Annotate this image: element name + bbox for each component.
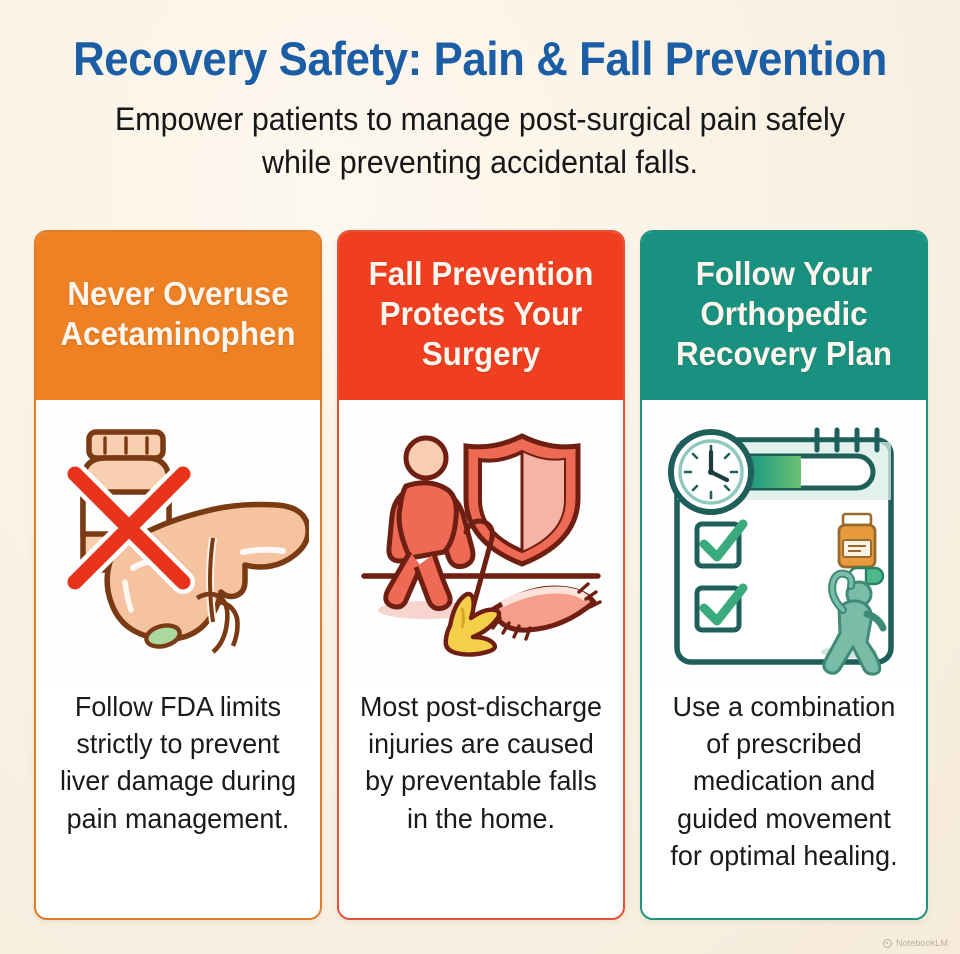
card-caption: Most post-discharge injuries are caused … xyxy=(350,686,611,908)
loose-rug-icon xyxy=(484,584,600,639)
card-header-recovery-plan: Follow Your Orthopedic Recovery Plan xyxy=(642,232,926,400)
watermark: NotebookLM xyxy=(883,938,948,948)
card-header-fall-prevention: Fall Prevention Protects Your Surgery xyxy=(339,232,623,400)
fall-prevention-illustration-svg xyxy=(350,414,612,676)
illustration-pill-bottle-crossed-out-with-liver xyxy=(42,404,314,686)
poster-header: Recovery Safety: Pain & Fall Prevention … xyxy=(0,0,960,184)
poster-subtitle: Empower patients to manage post-surgical… xyxy=(105,98,856,184)
shield-icon xyxy=(466,436,578,564)
illustration-recovery-plan-checklist xyxy=(648,404,920,686)
card-heading: Never Overuse Acetaminophen xyxy=(55,274,302,354)
card-caption: Follow FDA limits strictly to prevent li… xyxy=(47,686,308,908)
acetaminophen-illustration-svg xyxy=(47,414,309,676)
card-caption: Use a combination of prescribed medicati… xyxy=(653,686,914,908)
card-body-fall-prevention: Most post-discharge injuries are caused … xyxy=(339,400,623,918)
card-acetaminophen[interactable]: Never Overuse Acetaminophen xyxy=(34,230,322,920)
cards-row: Never Overuse Acetaminophen xyxy=(34,230,928,920)
card-header-acetaminophen: Never Overuse Acetaminophen xyxy=(36,232,320,400)
clock-icon xyxy=(671,432,751,512)
checkbox-checked-icon xyxy=(697,524,743,566)
card-heading: Follow Your Orthopedic Recovery Plan xyxy=(661,254,908,374)
walking-person-icon xyxy=(386,438,473,609)
card-heading: Fall Prevention Protects Your Surgery xyxy=(358,254,605,374)
recovery-plan-illustration-svg xyxy=(653,414,915,676)
medicine-bottle-icon xyxy=(839,514,875,567)
checkbox-checked-icon xyxy=(697,588,743,630)
page-title: Recovery Safety: Pain & Fall Prevention xyxy=(67,34,893,84)
watermark-label: NotebookLM xyxy=(896,938,948,948)
illustration-person-walking-with-cane-hazards xyxy=(345,404,617,686)
card-body-recovery-plan: Use a combination of prescribed medicati… xyxy=(642,400,926,918)
notebooklm-logo-icon xyxy=(883,939,892,948)
infographic-poster: Recovery Safety: Pain & Fall Prevention … xyxy=(0,0,960,954)
card-body-acetaminophen: Follow FDA limits strictly to prevent li… xyxy=(36,400,320,918)
card-fall-prevention[interactable]: Fall Prevention Protects Your Surgery xyxy=(337,230,625,920)
card-recovery-plan[interactable]: Follow Your Orthopedic Recovery Plan xyxy=(640,230,928,920)
